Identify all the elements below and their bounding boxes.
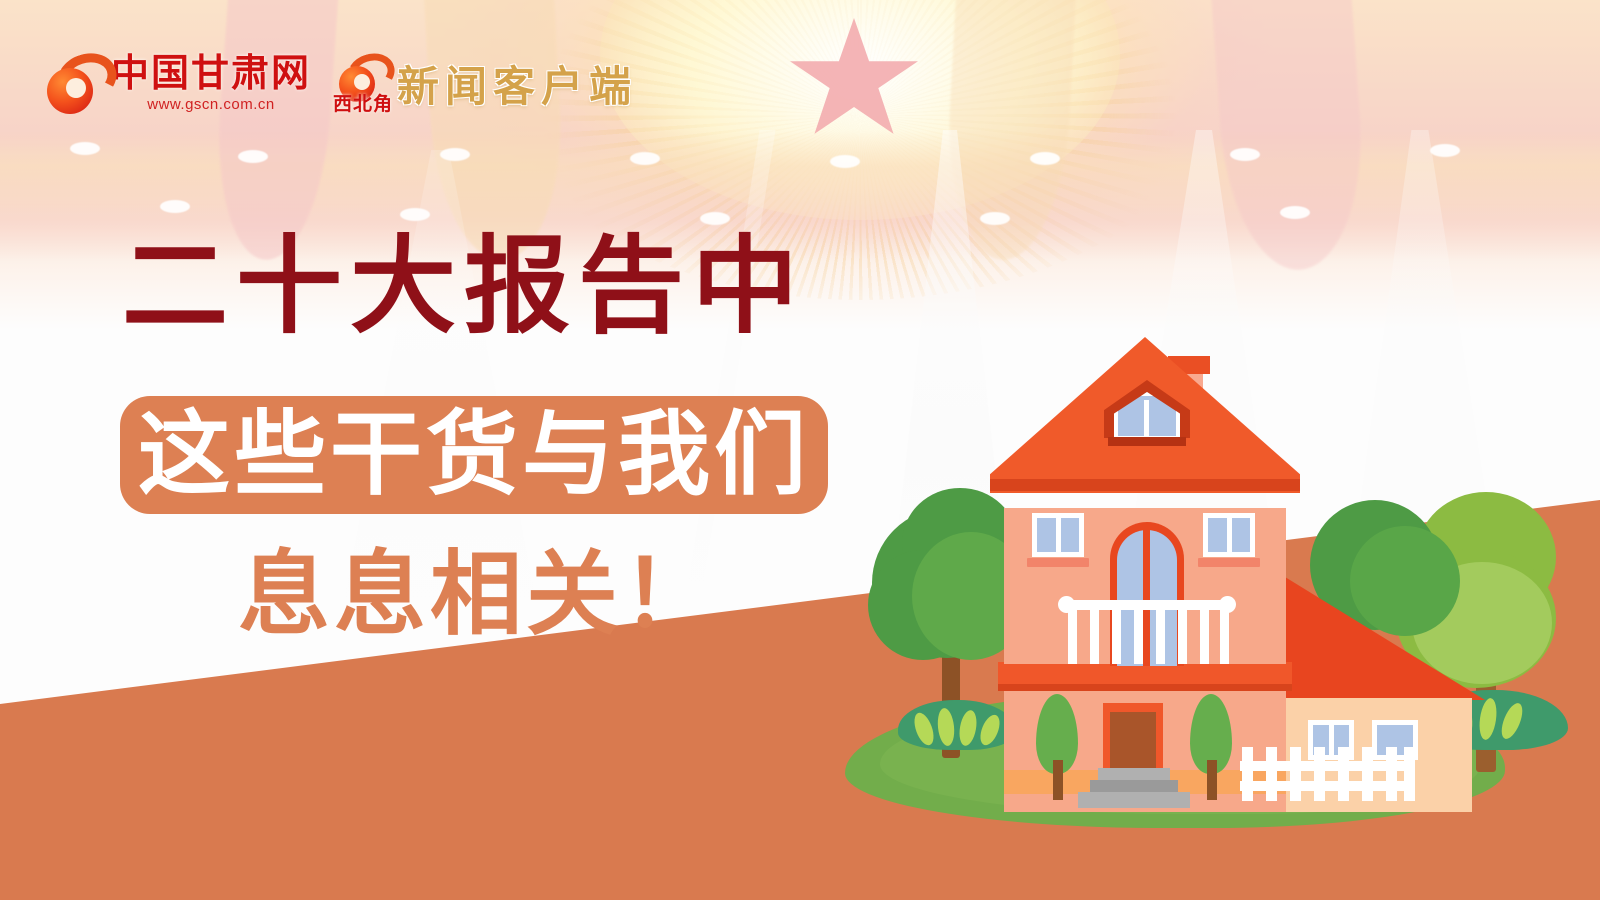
headline-line-2-highlight-box: 这些干货与我们 — [120, 396, 828, 514]
app-logo[interactable]: 西北角 新闻客户端 — [337, 53, 637, 114]
attic-window-mullion — [1144, 400, 1149, 440]
balcony-door-mullion — [1143, 530, 1150, 666]
attic-window-sill — [1108, 437, 1186, 446]
gscn-logo[interactable]: 中国甘肃网 www.gscn.com.cn — [45, 52, 311, 114]
app-name: 新闻客户端 — [397, 53, 637, 114]
xibeijiao-swirl-logo-icon: 西北角 — [337, 54, 383, 112]
site-name: 中国甘肃网 — [111, 54, 311, 92]
branding-bar: 中国甘肃网 www.gscn.com.cn 西北角 新闻客户端 — [45, 52, 637, 114]
app-sub-name: 西北角 — [333, 89, 393, 116]
site-url: www.gscn.com.cn — [147, 97, 275, 112]
house-window-upper-right — [1203, 513, 1255, 557]
gscn-swirl-logo-icon — [45, 52, 101, 114]
news-poster: 中国甘肃网 www.gscn.com.cn 西北角 新闻客户端 二十大报告中 这… — [0, 0, 1600, 900]
headline-line-3: 息息相关！ — [238, 549, 718, 641]
headline-line-1: 二十大报告中 — [122, 234, 806, 340]
house-window-upper-left — [1032, 513, 1084, 557]
headline-line-2: 这些干货与我们 — [138, 409, 810, 501]
picket-fence — [1240, 745, 1415, 801]
door-step-lower — [1078, 792, 1190, 808]
house-roof-eave-shadow — [990, 479, 1300, 491]
balcony-floor-shadow — [998, 684, 1292, 691]
